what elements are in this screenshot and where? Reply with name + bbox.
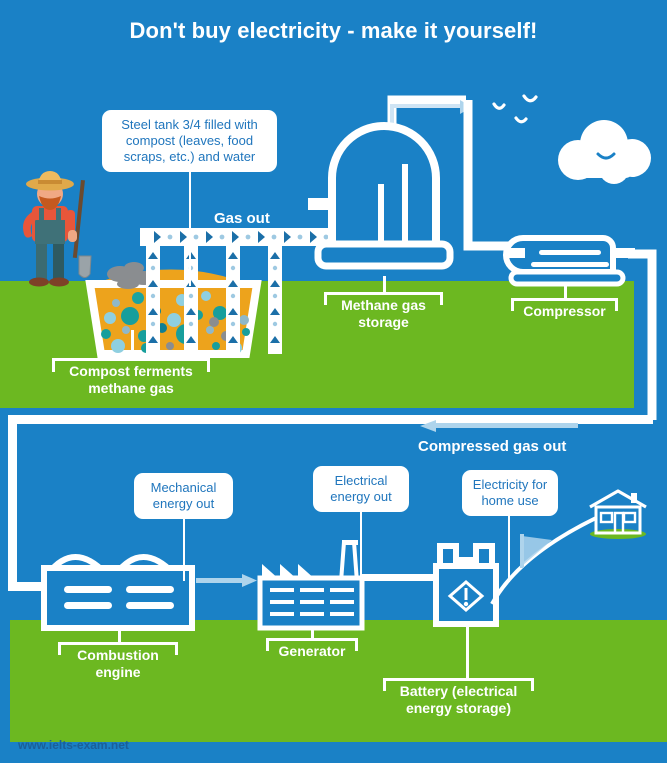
combustion-engine-icon [40, 540, 200, 632]
callout-steel-tank[interactable]: Steel tank 3/4 filled with compost (leav… [102, 110, 277, 172]
bracket-label-generator: Generator [266, 643, 358, 660]
gas-out-pipe [140, 228, 340, 246]
bracket-label-battery: Battery (electrical energy storage) [383, 683, 534, 717]
callout-home-electricity-leader [508, 516, 510, 582]
house-icon [586, 487, 650, 539]
callout-steel-tank-text: Steel tank 3/4 filled with compost (leav… [110, 117, 269, 165]
callout-mechanical-energy-leader [183, 519, 185, 581]
bracket-label-engine-line2: engine [95, 664, 140, 680]
bracket-label-compressor: Compressor [511, 303, 618, 320]
callout-electrical-energy[interactable]: Electrical energy out [313, 466, 409, 512]
generator-factory-icon [258, 538, 368, 632]
bracket-label-generator-line1: Generator [279, 643, 346, 659]
footer-url[interactable]: www.ielts-exam.net [18, 738, 129, 752]
compressed-gas-arrow [420, 419, 580, 433]
callout-mechanical-energy[interactable]: Mechanical energy out [134, 473, 233, 519]
gas-out-heading: Gas out [214, 210, 270, 227]
bracket-label-methane-line1: Methane gas [341, 297, 426, 313]
gas-riser-pipes [140, 228, 330, 356]
compressed-gas-return-pipe-left-down [8, 415, 17, 590]
bracket-label-compost-line1: Compost ferments [69, 363, 193, 379]
bracket-compost-stem [131, 330, 134, 360]
callout-home-electricity[interactable]: Electricity for home use [462, 470, 558, 516]
callout-electrical-energy-text: Electrical energy out [321, 473, 401, 505]
compressed-gas-out-heading: Compressed gas out [418, 438, 566, 455]
bracket-label-engine-line1: Combustion [77, 647, 159, 663]
bracket-label-compressor-line1: Compressor [523, 303, 605, 319]
bracket-label-methane-line2: storage [358, 314, 409, 330]
page-title: Don't buy electricity - make it yourself… [0, 18, 667, 44]
mechanical-energy-arrow [196, 574, 258, 588]
callout-home-electricity-text: Electricity for home use [470, 477, 550, 509]
bracket-label-battery-line2: energy storage) [406, 700, 511, 716]
bracket-label-compost: Compost ferments methane gas [52, 363, 210, 397]
bracket-battery-stem [466, 624, 469, 680]
bracket-label-methane: Methane gas storage [324, 297, 443, 331]
bracket-label-battery-line1: Battery (electrical [400, 683, 518, 699]
callout-electrical-energy-leader [360, 512, 362, 580]
bracket-label-compost-line2: methane gas [88, 380, 174, 396]
callout-mechanical-energy-text: Mechanical energy out [142, 480, 225, 512]
bracket-label-engine: Combustion engine [58, 647, 178, 681]
callout-steel-tank-leader [189, 172, 191, 286]
compressor-outlet-pipe [620, 240, 666, 430]
generator-to-battery-pipe [362, 574, 434, 581]
infographic-canvas: Don't buy electricity - make it yourself… [0, 0, 667, 763]
methane-dome-tank-icon [316, 86, 452, 286]
